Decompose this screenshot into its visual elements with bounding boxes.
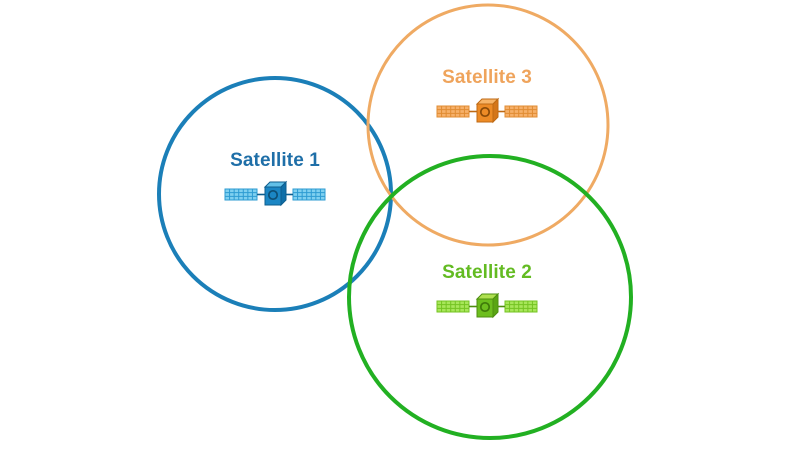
satellite-1-group[interactable]: Satellite 1 <box>223 151 327 209</box>
satellite-icon <box>435 291 539 321</box>
satellite-3-label: Satellite 3 <box>435 68 539 87</box>
diagram-canvas: Satellite 1 Satellite 2 Satellite 3 <box>0 0 800 450</box>
satellite-1-label: Satellite 1 <box>223 151 327 170</box>
satellite-icon <box>223 179 327 209</box>
satellite-2-group[interactable]: Satellite 2 <box>435 263 539 321</box>
satellite-3-group[interactable]: Satellite 3 <box>435 68 539 126</box>
coverage-circles-layer <box>0 0 800 450</box>
satellite-2-label: Satellite 2 <box>435 263 539 282</box>
satellite-icon <box>435 96 539 126</box>
